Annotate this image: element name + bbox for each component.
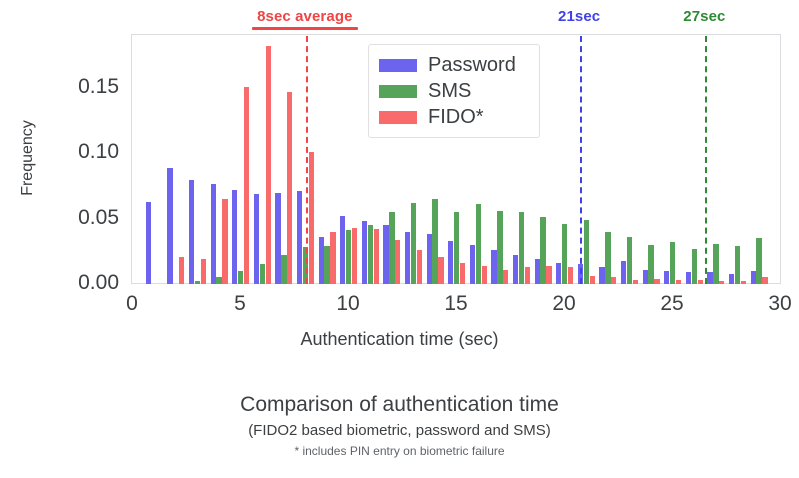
caption-title: Comparison of authentication time — [0, 392, 799, 418]
x-tick-label: 30 — [768, 292, 791, 316]
x-tick-label: 15 — [444, 292, 467, 316]
threshold-line — [306, 36, 308, 284]
y-tick-label: 0.00 — [78, 271, 119, 295]
x-tick-label: 5 — [234, 292, 246, 316]
legend-item-sms[interactable]: SMS — [379, 78, 525, 104]
x-tick-label: 25 — [660, 292, 683, 316]
threshold-label: 21sec — [558, 8, 600, 25]
x-tick-label: 10 — [336, 292, 359, 316]
y-tick-label: 0.05 — [78, 206, 119, 230]
legend-item-label: FIDO* — [428, 107, 484, 127]
legend-swatch-icon — [379, 59, 417, 72]
legend-item-password[interactable]: Password — [379, 52, 525, 78]
legend-swatch-icon — [379, 85, 417, 98]
chart-figure: 8sec average21sec27sec 0.000.050.100.15 … — [0, 0, 799, 478]
y-axis-ticks: 0.000.050.100.15 — [0, 35, 119, 283]
chart-legend: PasswordSMSFIDO* — [368, 44, 540, 138]
chart-caption: Comparison of authentication time (FIDO2… — [0, 392, 799, 460]
x-axis-ticks: 051015202530 — [132, 292, 780, 322]
y-tick-label: 0.15 — [78, 75, 119, 99]
threshold-label-underline — [252, 27, 358, 30]
x-tick-label: 20 — [552, 292, 575, 316]
legend-item-label: SMS — [428, 81, 471, 101]
caption-footnote: * includes PIN entry on biometric failur… — [0, 443, 799, 460]
threshold-label: 8sec average — [257, 8, 352, 25]
x-tick-label: 0 — [126, 292, 138, 316]
legend-item-fido[interactable]: FIDO* — [379, 104, 525, 130]
threshold-line — [580, 36, 582, 284]
threshold-line — [705, 36, 707, 284]
threshold-label: 27sec — [683, 8, 725, 25]
y-tick-label: 0.10 — [78, 140, 119, 164]
marker-labels-layer: 8sec average21sec27sec — [0, 0, 799, 34]
caption-subtitle: (FIDO2 based biometric, password and SMS… — [0, 420, 799, 441]
x-axis-label: Authentication time (sec) — [0, 329, 799, 350]
legend-item-label: Password — [428, 55, 516, 75]
legend-swatch-icon — [379, 111, 417, 124]
y-axis-label: Frequency — [19, 34, 37, 282]
